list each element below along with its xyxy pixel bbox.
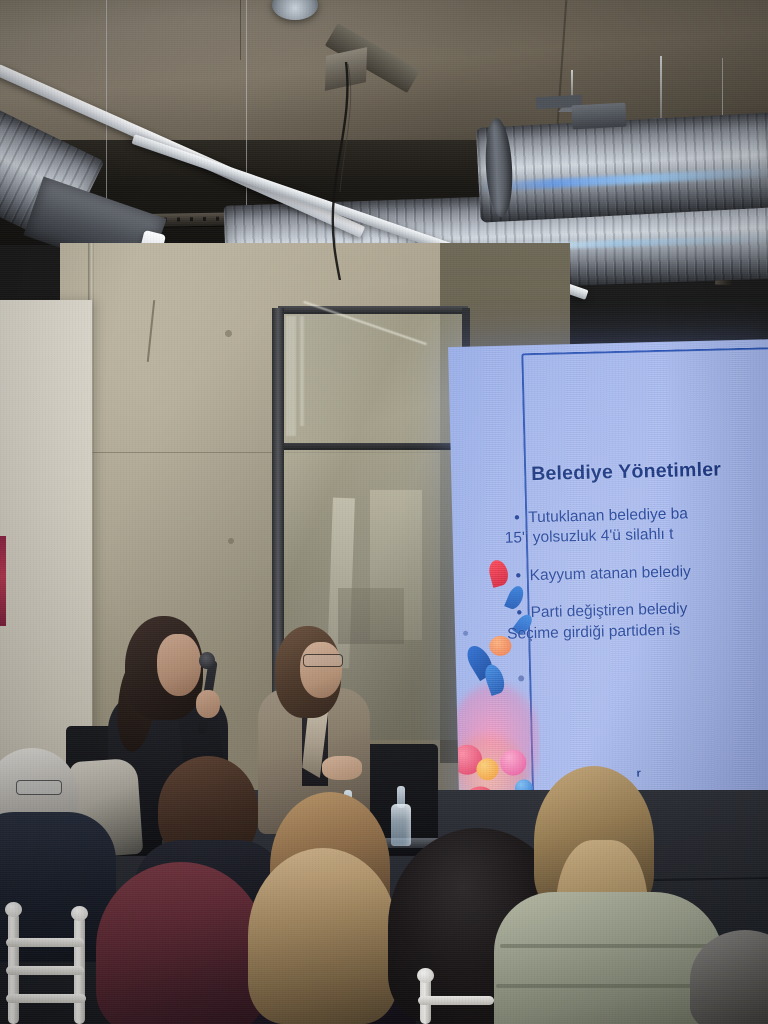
speaker-two-face	[300, 642, 342, 698]
wall-mark	[225, 330, 232, 337]
puffer-quilt-seam	[496, 984, 720, 988]
slide-bullet-item: •Tutuklanan belediye ba 15'i yolsuzluk 4…	[514, 501, 768, 550]
glass-frame-top	[278, 306, 468, 314]
bullet-lead-text: Kayyum atanan belediy	[529, 563, 691, 584]
bullet-marker-icon: •	[516, 604, 530, 625]
water-bottle	[391, 804, 411, 846]
glass-mullion	[278, 443, 468, 450]
auburn-wavy-hair	[96, 862, 266, 1024]
speaker-two-hands	[322, 756, 362, 780]
slide-footer-text: r	[636, 768, 641, 782]
speaker-one-hand	[196, 690, 220, 718]
speaker-one-face	[157, 634, 201, 696]
bullet-lead-text: Tutuklanan belediye ba	[528, 505, 688, 526]
hanging-cable	[0, 0, 768, 280]
wall-poster-edge	[0, 536, 6, 626]
conference-panel-photo: Belediye Yönetimler •Tutuklanan belediye…	[0, 0, 768, 1024]
puffer-quilt-seam	[500, 944, 718, 948]
slide-bullet-list: •Tutuklanan belediye ba 15'i yolsuzluk 4…	[514, 501, 768, 662]
slide-bullet-item: •Parti değiştiren belediy Seçime girdiği…	[516, 596, 768, 645]
blonde-straight-hair	[248, 848, 398, 1024]
glass-reflection-shape	[338, 588, 404, 644]
bullet-marker-icon: •	[514, 508, 528, 529]
glass-reflection-streak	[300, 316, 304, 426]
bullet-marker-icon: •	[515, 566, 529, 587]
wall-mark	[228, 538, 234, 544]
slide-bullet-item: •Kayyum atanan belediy	[515, 559, 768, 587]
eyeglasses-icon	[303, 654, 343, 667]
eyeglasses-icon	[16, 780, 62, 795]
bullet-lead-text: Parti değiştiren belediy	[530, 601, 687, 622]
glass-reflection-streak	[286, 316, 296, 436]
